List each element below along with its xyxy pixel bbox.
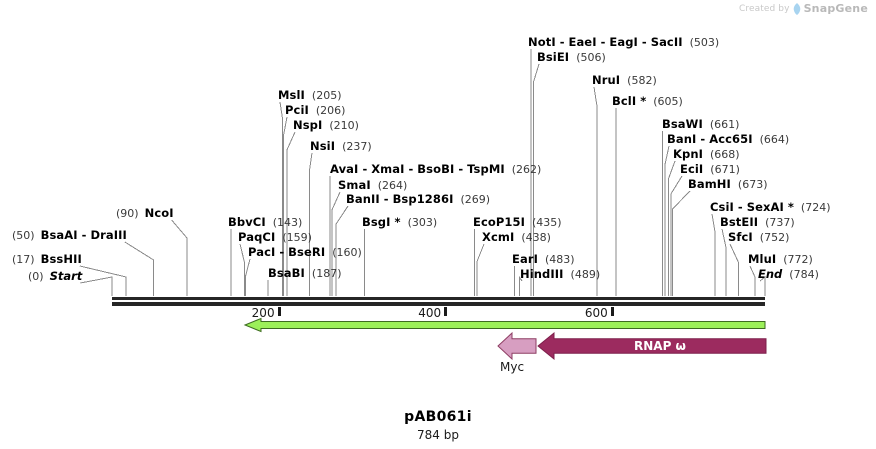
feature-arrows: RNAP ω (0, 0, 876, 449)
plasmid-size: 784 bp (0, 428, 876, 442)
translation-arrow[interactable] (245, 319, 765, 332)
feature-arrow-myc[interactable] (498, 333, 536, 359)
feature-label-rnap: RNAP ω (634, 339, 686, 353)
feature-label-myc: Myc (500, 360, 524, 374)
plasmid-map-canvas: Created by SnapGene (0)Start(17)BssHII(5… (0, 0, 876, 449)
page-title: pAB061i (0, 409, 876, 425)
